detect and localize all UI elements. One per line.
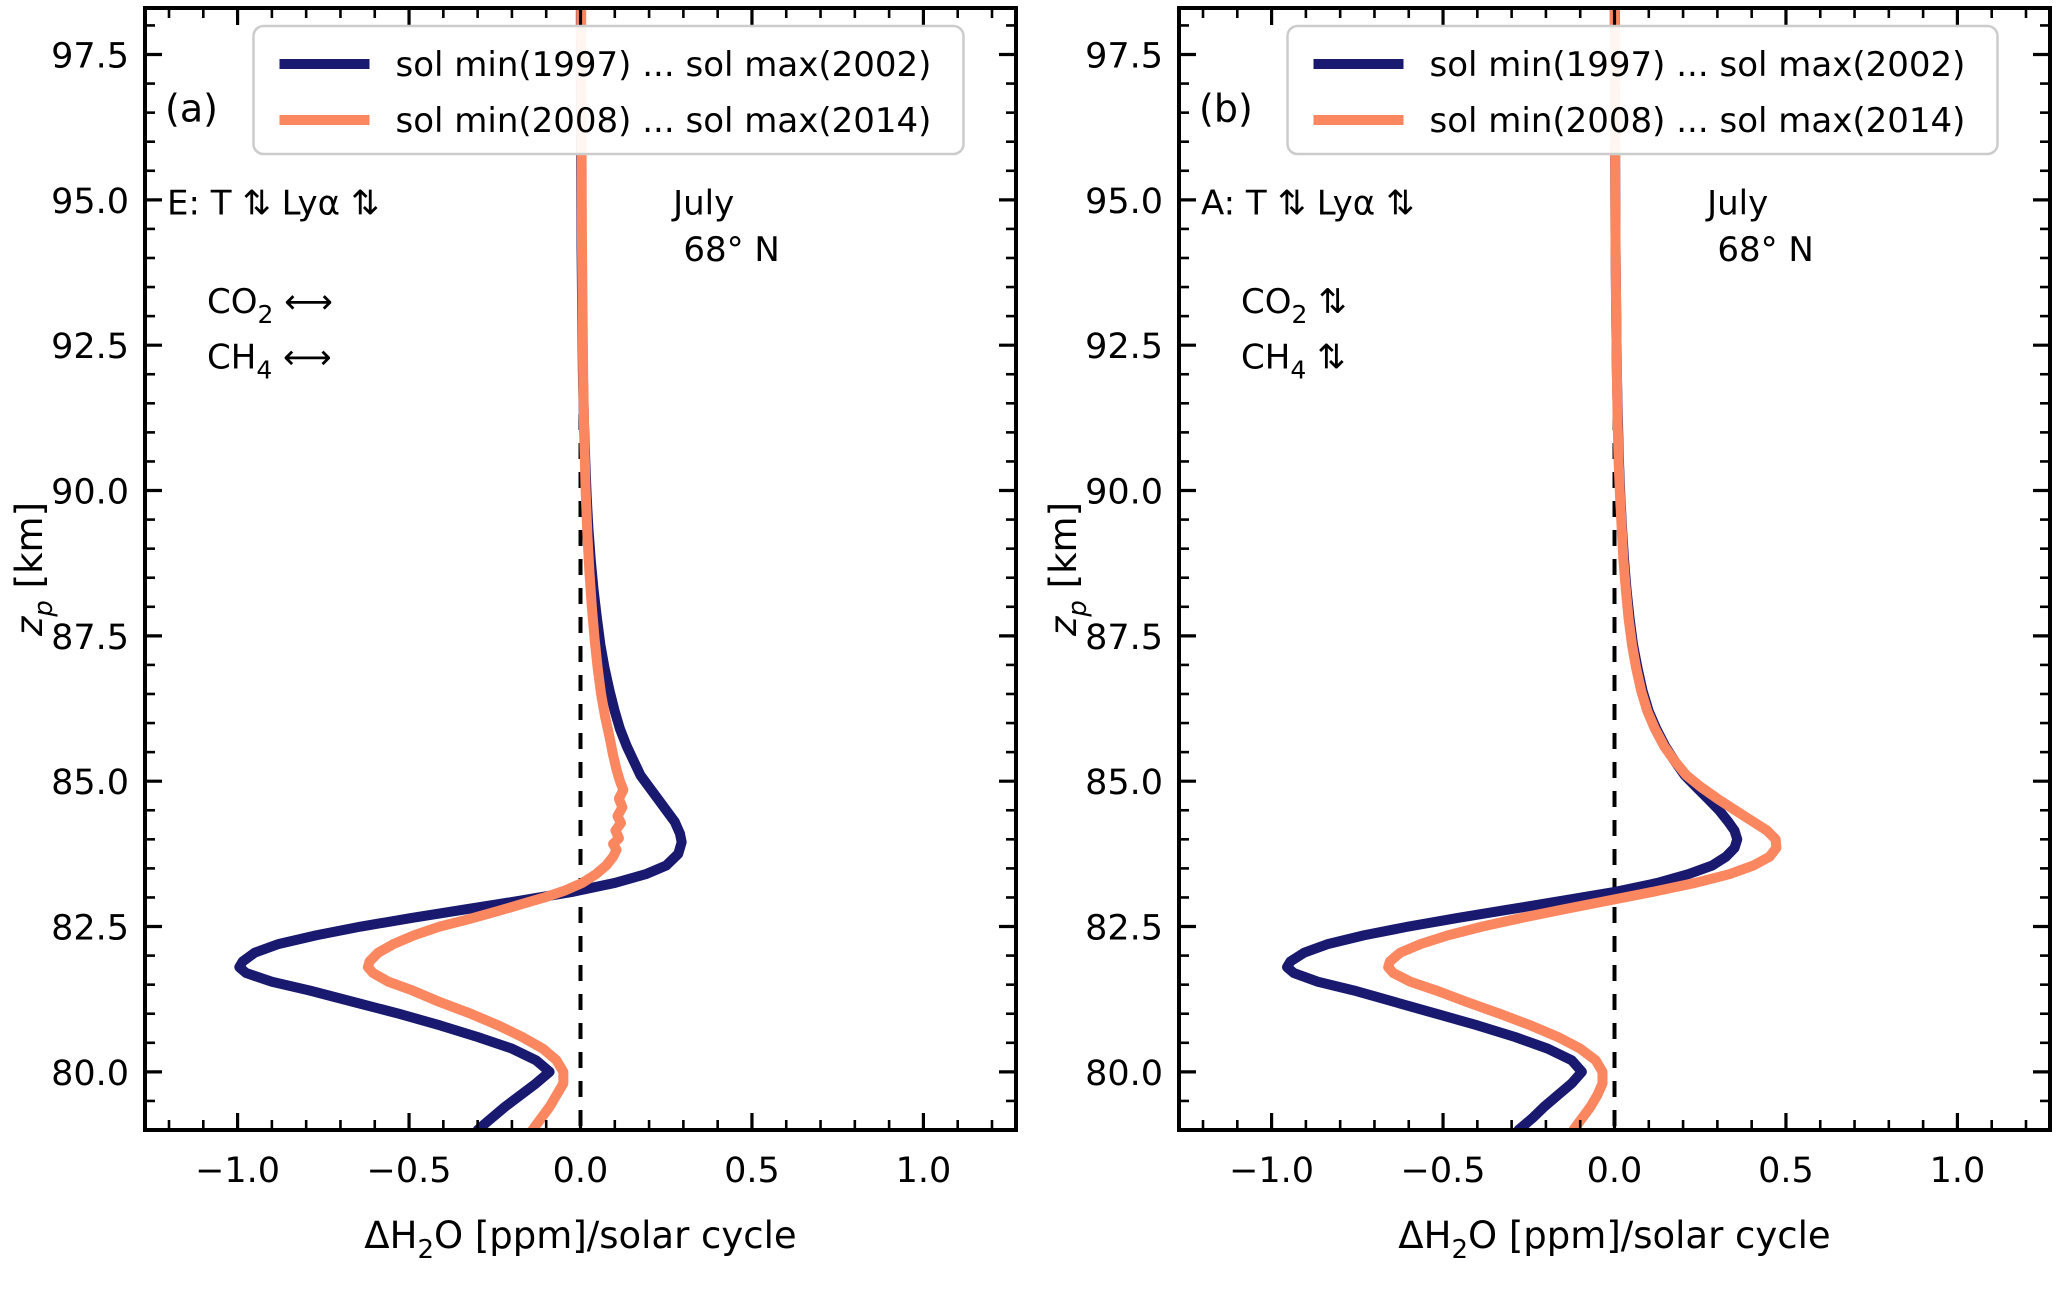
month-label: July [1705, 183, 1768, 223]
x-tick-label: −0.5 [1401, 1151, 1486, 1191]
panel-a: −1.0−0.50.00.51.080.082.585.087.590.092.… [0, 0, 1033, 1289]
x-axis-title: ΔH2O [ppm]/solar cycle [364, 1214, 796, 1265]
x-tick-label: 1.0 [896, 1151, 952, 1191]
x-axis-title: ΔH2O [ppm]/solar cycle [1398, 1214, 1830, 1265]
x-tick-label: −1.0 [195, 1151, 280, 1191]
y-tick-label: 80.0 [1085, 1054, 1163, 1094]
y-tick-label: 90.0 [51, 473, 129, 513]
legend-label: sol min(2008) ... sol max(2014) [1430, 101, 1966, 141]
y-tick-label: 97.5 [51, 37, 129, 77]
x-tick-label: 0.5 [1758, 1151, 1814, 1191]
legend-label: sol min(1997) ... sol max(2002) [1430, 45, 1966, 85]
y-tick-label: 82.5 [1085, 909, 1163, 949]
y-tick-label: 92.5 [51, 327, 129, 367]
species-annotation-co2: CO2 ⇅ [1241, 282, 1347, 329]
y-axis-title: zp [km] [8, 502, 59, 637]
x-tick-label: −1.0 [1229, 1151, 1314, 1191]
panel-tag-b: (b) [1199, 86, 1253, 130]
legend: sol min(1997) ... sol max(2002)sol min(2… [254, 26, 964, 154]
y-tick-label: 80.0 [51, 1054, 129, 1094]
month-label: July [671, 183, 734, 223]
species-annotation-ch4: CH4 ⟷ [207, 337, 332, 384]
y-axis-title: zp [km] [1042, 502, 1093, 637]
legend-label: sol min(1997) ... sol max(2002) [396, 45, 932, 85]
y-tick-label: 85.0 [1085, 763, 1163, 803]
series-line-sol-cycle-24 [1388, 8, 1776, 1130]
y-tick-label: 90.0 [1085, 473, 1163, 513]
figure-root: −1.0−0.50.00.51.080.082.585.087.590.092.… [0, 0, 2067, 1289]
y-tick-label: 87.5 [51, 618, 129, 658]
model-forcing-annotation: E: T ⇅ Lyα ⇅ [167, 183, 379, 223]
legend: sol min(1997) ... sol max(2002)sol min(2… [1288, 26, 1998, 154]
series-line-sol-cycle-23 [1287, 8, 1737, 1130]
panel-tag-a: (a) [165, 86, 218, 130]
series-line-sol-cycle-23 [239, 8, 681, 1130]
x-tick-label: 1.0 [1930, 1151, 1986, 1191]
y-tick-label: 97.5 [1085, 37, 1163, 77]
series-group [239, 8, 681, 1130]
y-tick-label: 95.0 [1085, 182, 1163, 222]
y-tick-label: 92.5 [1085, 327, 1163, 367]
series-group [1287, 8, 1776, 1130]
series-line-sol-cycle-24 [368, 8, 623, 1130]
y-tick-label: 87.5 [1085, 618, 1163, 658]
model-forcing-annotation: A: T ⇅ Lyα ⇅ [1201, 183, 1414, 223]
y-tick-label: 85.0 [51, 763, 129, 803]
y-tick-label: 82.5 [51, 909, 129, 949]
panel-b: −1.0−0.50.00.51.080.082.585.087.590.092.… [1034, 0, 2067, 1289]
legend-label: sol min(2008) ... sol max(2014) [396, 101, 932, 141]
x-tick-label: 0.5 [724, 1151, 780, 1191]
species-annotation-ch4: CH4 ⇅ [1241, 337, 1346, 384]
x-tick-label: −0.5 [367, 1151, 452, 1191]
x-tick-label: 0.0 [1587, 1151, 1643, 1191]
y-tick-label: 95.0 [51, 182, 129, 222]
latitude-label: 68° N [1717, 230, 1814, 270]
species-annotation-co2: CO2 ⟷ [207, 282, 333, 329]
x-tick-label: 0.0 [553, 1151, 609, 1191]
latitude-label: 68° N [683, 230, 780, 270]
